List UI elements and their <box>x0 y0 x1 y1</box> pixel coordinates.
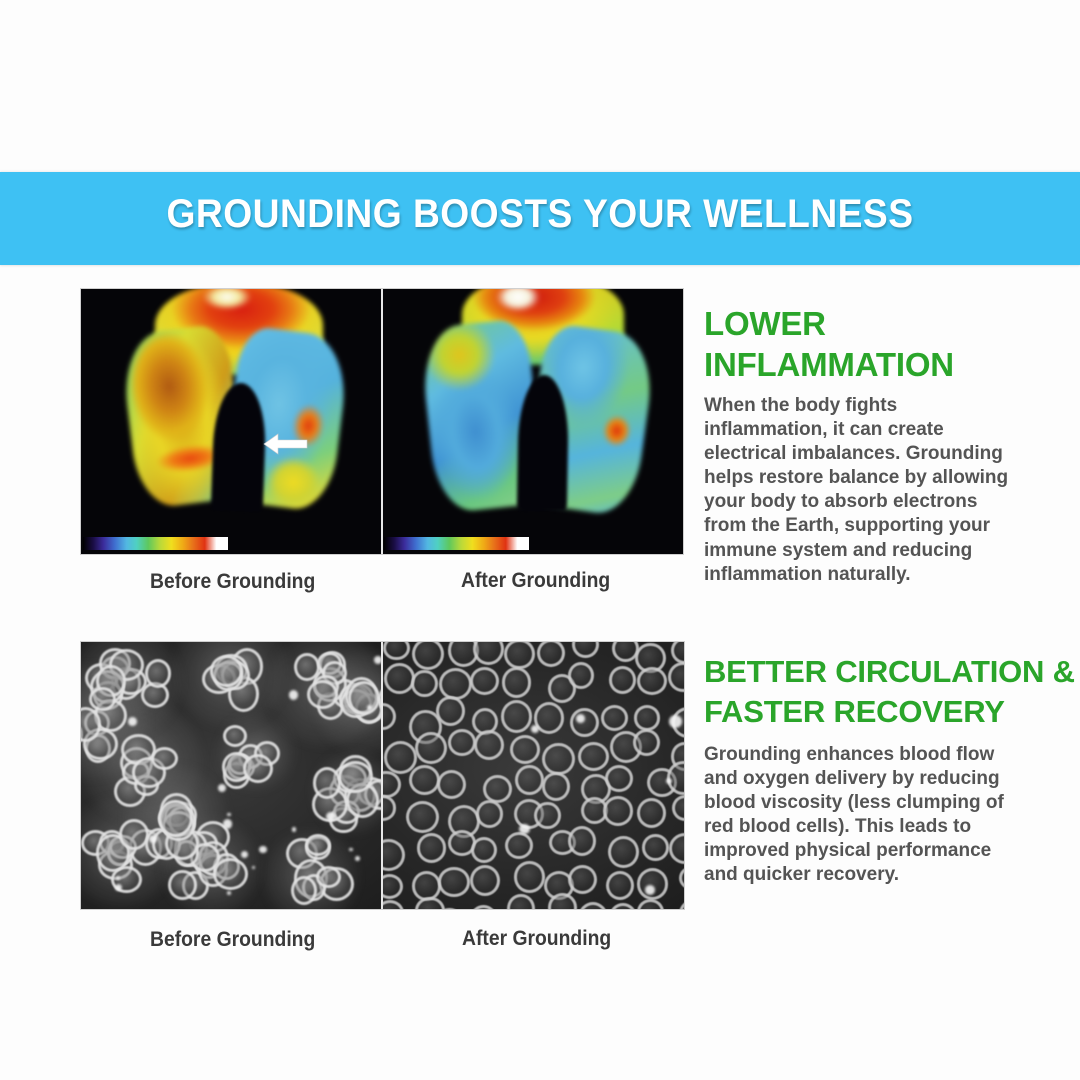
blood-cell <box>572 642 599 658</box>
blood-cell <box>534 802 560 829</box>
caption-thermal-after: After Grounding <box>461 569 610 593</box>
microscopy-before-stage <box>81 642 383 909</box>
blood-cell <box>542 743 574 775</box>
blood-cell <box>476 800 504 828</box>
microscopy-before-panel <box>81 642 383 909</box>
header-banner: GROUNDING BOOSTS YOUR WELLNESS <box>0 172 1080 265</box>
bloodcell-comparison-image <box>81 642 684 909</box>
microscopy-speck <box>669 715 682 728</box>
blood-cell <box>605 765 633 792</box>
blood-cell <box>608 836 639 868</box>
blood-cell <box>634 705 661 731</box>
blood-cell <box>307 680 338 709</box>
blood-cell <box>243 754 273 783</box>
caption-microscopy-after: After Grounding <box>462 927 611 951</box>
blood-cell <box>568 826 597 856</box>
blood-cell <box>633 729 660 756</box>
blood-cell <box>415 732 447 764</box>
blood-cell <box>568 865 597 894</box>
blood-cell <box>542 772 570 801</box>
blood-cell <box>383 703 397 731</box>
thermal-leg-gap <box>517 375 569 512</box>
blood-cell <box>470 667 499 695</box>
blood-cell <box>483 775 512 804</box>
microscopy-speck <box>128 717 137 726</box>
blood-cell <box>406 801 439 833</box>
blood-cell <box>671 642 684 664</box>
microscopy-speck <box>227 813 230 816</box>
blood-cell <box>383 900 405 909</box>
microscopy-speck <box>349 848 352 851</box>
thermal-comparison-image <box>81 289 683 554</box>
blood-cell <box>514 861 545 892</box>
microscopy-speck <box>218 784 227 793</box>
blood-cell <box>471 837 497 863</box>
section-headline-lower-inflammation: LOWER INFLAMMATION <box>704 303 1074 385</box>
blood-cell <box>537 642 565 667</box>
blood-cell <box>436 696 465 726</box>
blood-cell <box>470 865 501 896</box>
microscopy-speck <box>259 846 267 854</box>
microscopy-speck <box>367 705 372 710</box>
blood-cell <box>383 874 404 899</box>
blood-cell <box>637 798 667 828</box>
blood-cell <box>668 662 684 692</box>
inflammation-arrow-icon <box>263 432 308 456</box>
microscopy-speck <box>576 714 585 723</box>
blood-cell <box>383 839 405 871</box>
blood-cell <box>669 833 684 864</box>
blood-cell <box>470 905 497 909</box>
blood-cell <box>601 705 628 731</box>
blood-cell <box>672 795 684 821</box>
blood-cell <box>411 670 437 697</box>
infographic-page: GROUNDING BOOSTS YOUR WELLNESS <box>0 0 1080 1080</box>
blood-cell <box>439 668 472 700</box>
blood-cell <box>603 796 633 825</box>
blood-cell <box>504 642 534 669</box>
microscopy-speck <box>223 819 233 829</box>
blood-cell <box>502 667 532 697</box>
caption-thermal-before: Before Grounding <box>150 570 315 594</box>
section-body-lower-inflammation: When the body fights inflammation, it ca… <box>704 394 1024 587</box>
blood-cell <box>474 730 504 760</box>
blood-cell <box>609 903 637 909</box>
blood-cell <box>473 642 504 665</box>
blood-cell <box>568 662 594 689</box>
microscopy-speck <box>289 690 299 700</box>
blood-cell <box>291 876 317 905</box>
thermal-scale-bar <box>83 537 228 550</box>
microscopy-after-panel <box>383 642 685 909</box>
thermal-before-panel <box>81 289 382 554</box>
thermal-panel-divider <box>381 289 383 554</box>
microscopy-speck <box>645 885 655 895</box>
blood-cell <box>158 800 193 837</box>
blood-cell <box>507 894 535 909</box>
blood-cell <box>637 899 664 909</box>
microscopy-panel-divider <box>381 642 383 909</box>
blood-cell <box>384 663 415 694</box>
blood-cell <box>642 834 668 861</box>
microscopy-after-stage <box>383 642 685 909</box>
blood-cell <box>448 729 476 756</box>
thermal-scale-bar <box>384 537 529 550</box>
blood-cell <box>313 767 342 799</box>
blood-cell <box>609 666 637 694</box>
microscopy-speck <box>227 891 231 895</box>
blood-cell <box>384 741 417 773</box>
section-body-better-circulation: Grounding enhances blood flow and oxygen… <box>704 743 1029 888</box>
caption-microscopy-before: Before Grounding <box>150 928 315 952</box>
blood-cell <box>438 867 469 896</box>
microscopy-speck <box>355 856 360 861</box>
blood-cell <box>606 871 635 901</box>
section-headline-better-circulation: BETTER CIRCULATION & FASTER RECOVERY <box>704 652 1076 732</box>
microscopy-speck <box>519 824 530 835</box>
blood-cell <box>510 735 540 764</box>
banner-title: GROUNDING BOOSTS YOUR WELLNESS <box>38 192 1042 237</box>
blood-cell <box>383 642 409 660</box>
blood-cell <box>679 899 684 909</box>
blood-cell <box>578 742 609 771</box>
blood-cell <box>501 700 532 733</box>
thermal-after-stage <box>382 289 683 554</box>
microscopy-speck <box>149 835 157 843</box>
blood-cell <box>637 868 668 900</box>
thermal-before-stage <box>81 289 382 554</box>
blood-cell <box>570 708 599 737</box>
blood-cell <box>412 642 444 670</box>
thermal-after-panel <box>382 289 683 554</box>
blood-cell <box>316 866 341 888</box>
microscopy-speck <box>292 827 296 831</box>
microscopy-speck <box>326 812 336 822</box>
blood-cell <box>578 902 608 909</box>
blood-cell <box>437 770 466 800</box>
microscopy-speck <box>531 725 539 733</box>
blood-cell <box>505 832 533 859</box>
blood-cell <box>383 795 397 821</box>
blood-cell <box>637 667 667 696</box>
blood-cell <box>515 765 544 795</box>
blood-cell <box>417 833 446 862</box>
blood-cell <box>168 870 196 900</box>
blood-cell <box>679 866 684 890</box>
blood-cell <box>548 893 577 909</box>
blood-cell <box>409 765 440 795</box>
